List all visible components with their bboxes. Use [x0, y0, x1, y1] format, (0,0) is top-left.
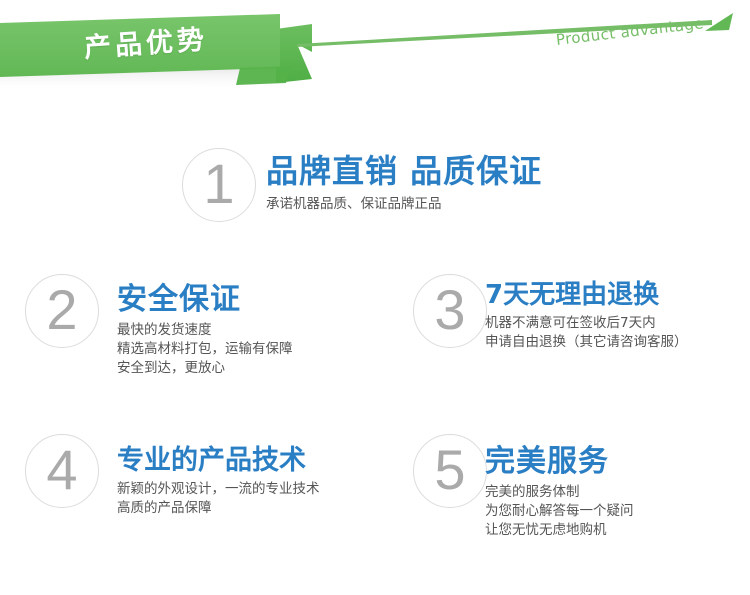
feature-content: 7天无理由退换 机器不满意可在签收后7天内 申请自由退换（其它请咨询客服） — [485, 274, 688, 352]
feature-title: 专业的产品技术 — [117, 438, 320, 477]
feature-content: 品牌直销 品质保证 承诺机器品质、保证品牌正品 — [266, 146, 542, 214]
feature-number: 3 — [413, 274, 487, 348]
feature-description-line: 高质的产品保障 — [117, 499, 320, 518]
feature-content: 安全保证 最快的发货速度 精选高材料打包，运输有保障 安全到达，更放心 — [117, 274, 293, 378]
feature-description: 新颖的外观设计，一流的专业技术 高质的产品保障 — [117, 480, 320, 518]
feature-description-line: 最快的发货速度 — [117, 321, 293, 340]
page-header-banner: 产品优势 Product advantage — [0, 0, 750, 100]
feature-description-line: 承诺机器品质、保证品牌正品 — [266, 195, 542, 214]
feature-number: 2 — [25, 274, 99, 348]
feature-description-line: 为您耐心解答每一个疑问 — [485, 502, 634, 521]
feature-description: 机器不满意可在签收后7天内 申请自由退换（其它请咨询客服） — [485, 314, 688, 352]
feature-title: 安全保证 — [117, 274, 293, 318]
feature-title: 完美服务 — [485, 436, 634, 480]
feature-description: 完美的服务体制 为您耐心解答每一个疑问 让您无忧无虑地购机 — [485, 483, 634, 540]
feature-description-line: 精选高材料打包，运输有保障 — [117, 340, 293, 359]
feature-description-line: 新颖的外观设计，一流的专业技术 — [117, 480, 320, 499]
feature-number: 4 — [25, 434, 99, 508]
feature-content: 完美服务 完美的服务体制 为您耐心解答每一个疑问 让您无忧无虑地购机 — [485, 436, 634, 540]
ribbon-fold-under — [236, 66, 290, 85]
feature-number: 1 — [182, 148, 256, 222]
feature-number: 5 — [413, 434, 487, 508]
feature-description-line: 完美的服务体制 — [485, 483, 634, 502]
feature-description-line: 安全到达，更放心 — [117, 359, 293, 378]
feature-title: 品牌直销 品质保证 — [266, 146, 542, 192]
feature-description: 最快的发货速度 精选高材料打包，运输有保障 安全到达，更放心 — [117, 321, 293, 378]
feature-description-line: 让您无忧无虑地购机 — [485, 521, 634, 540]
feature-description-line: 申请自由退换（其它请咨询客服） — [485, 333, 688, 352]
feature-description: 承诺机器品质、保证品牌正品 — [266, 195, 542, 214]
feature-title: 7天无理由退换 — [485, 274, 688, 311]
feature-content: 专业的产品技术 新颖的外观设计，一流的专业技术 高质的产品保障 — [117, 438, 320, 518]
feature-description-line: 机器不满意可在签收后7天内 — [485, 314, 688, 333]
